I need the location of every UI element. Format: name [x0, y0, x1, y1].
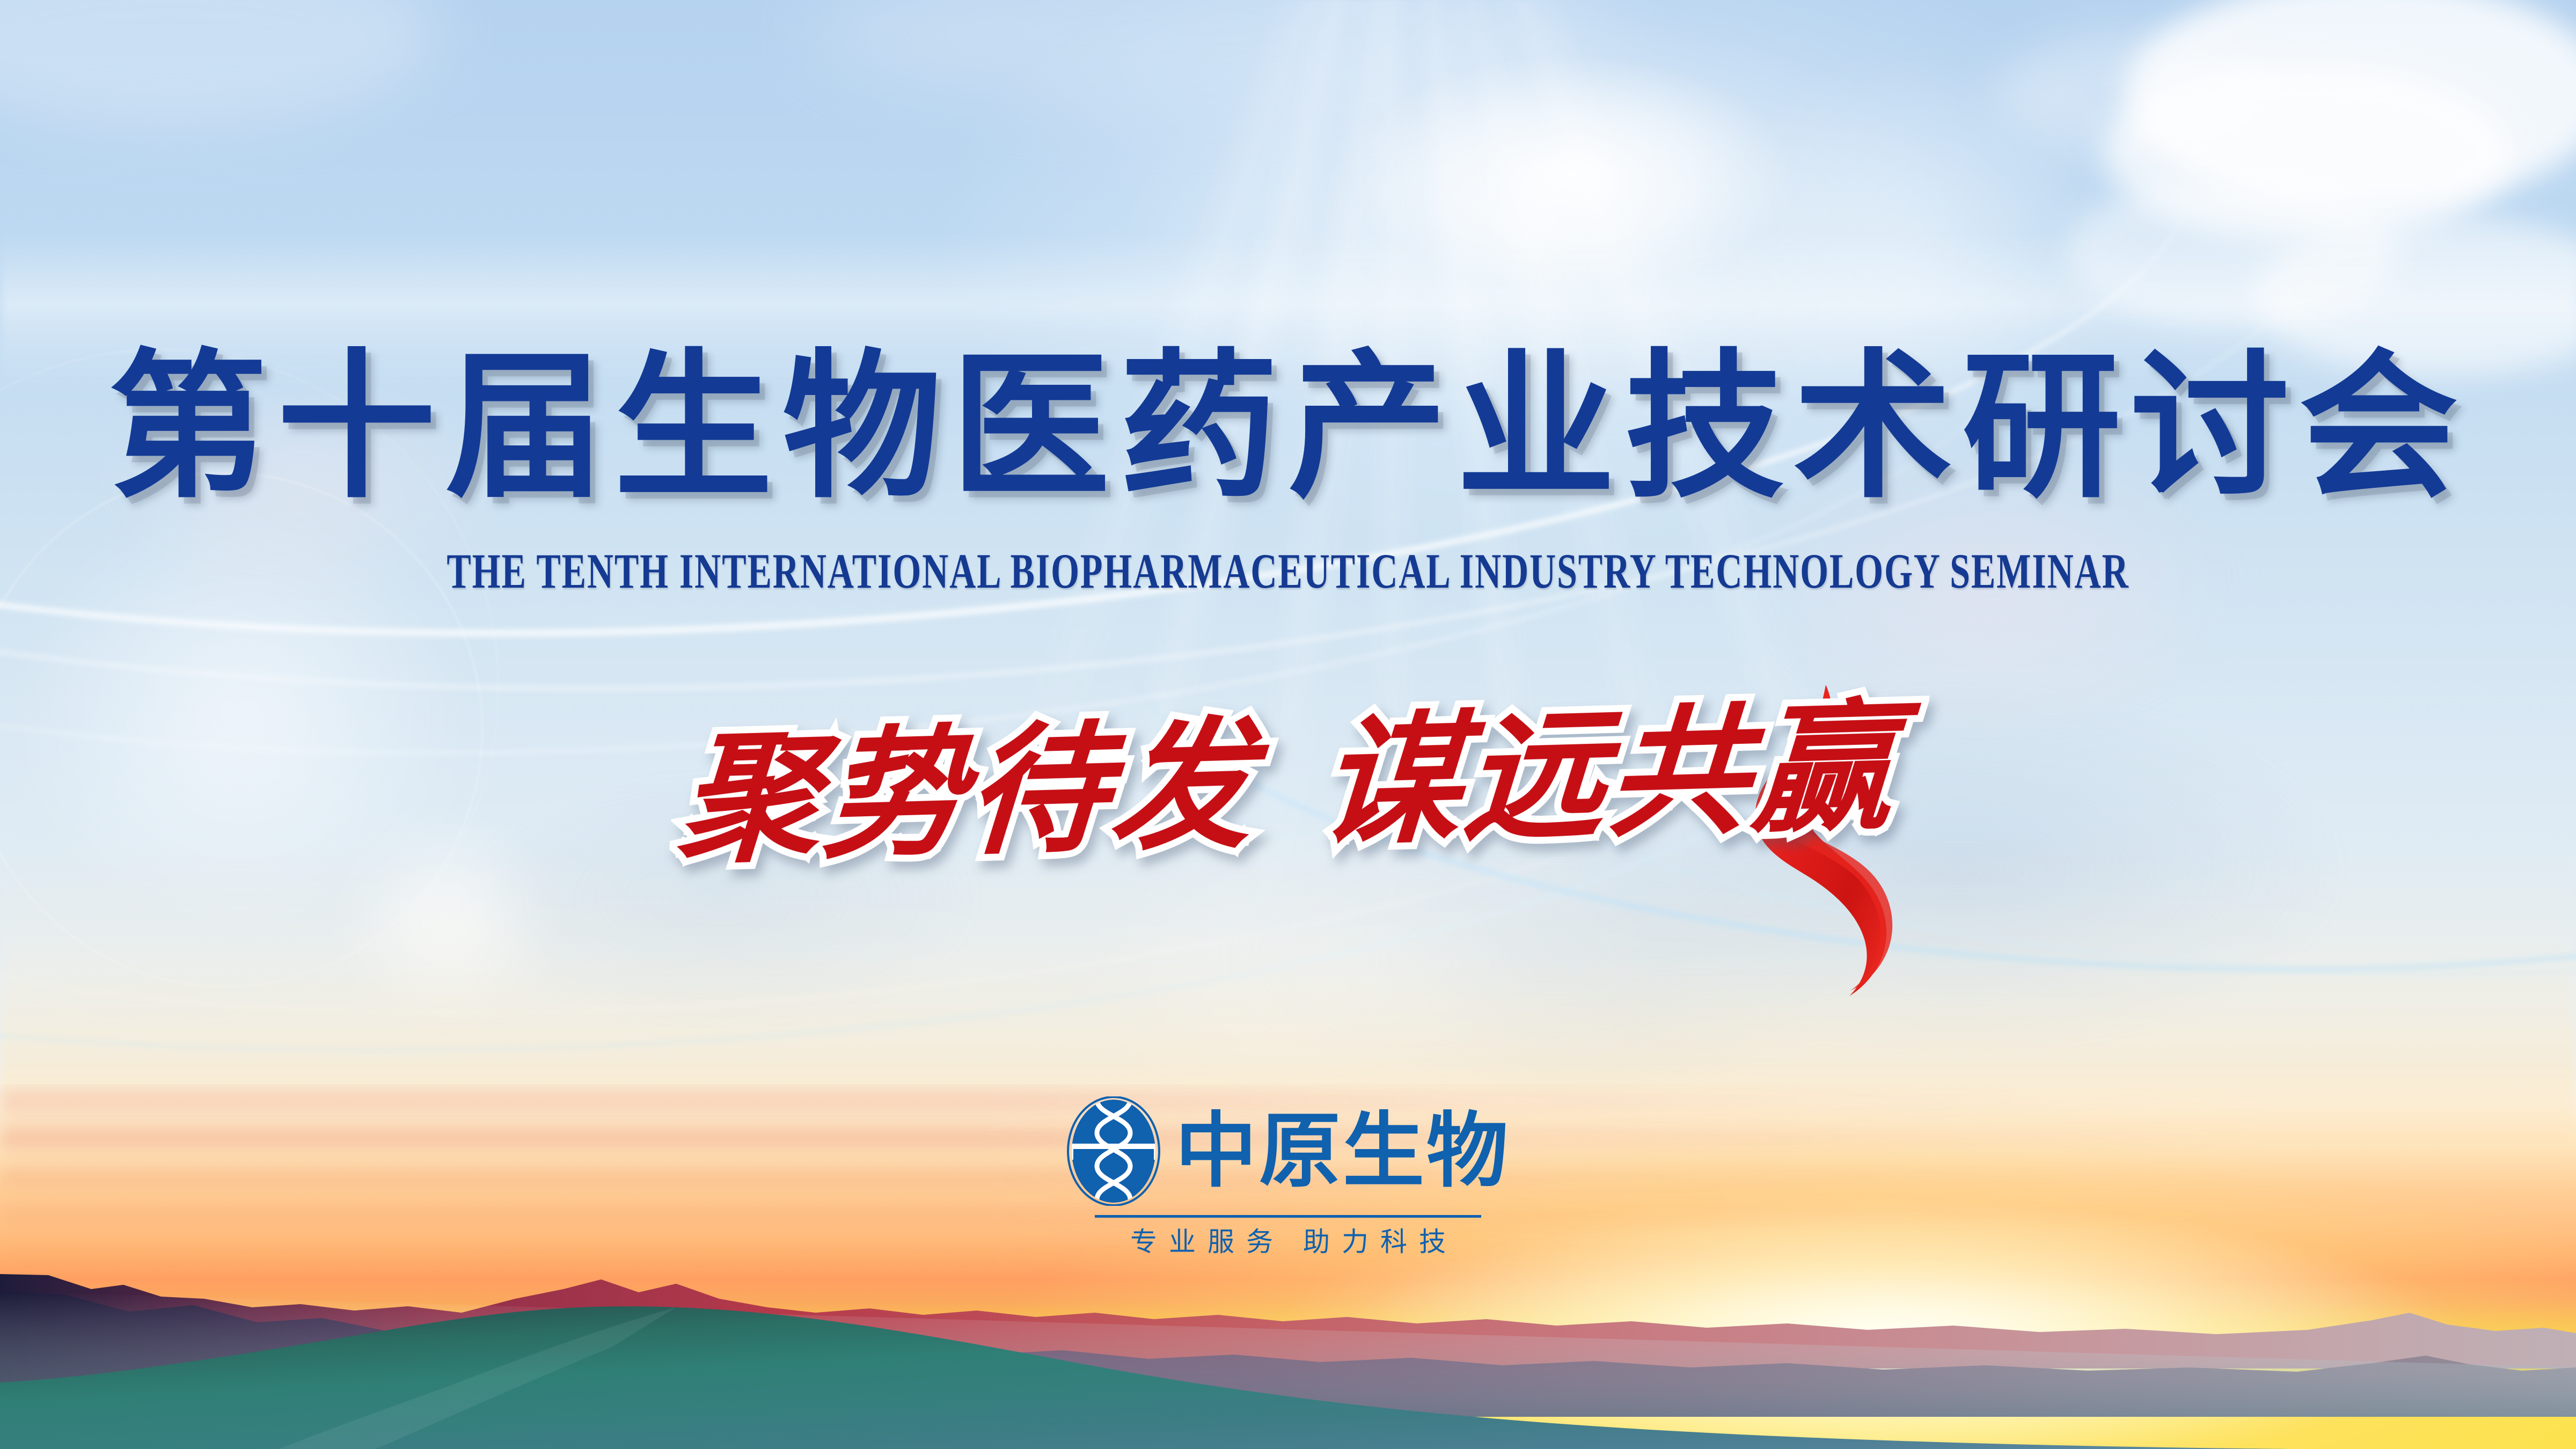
logo-divider: [1095, 1215, 1481, 1218]
page-subtitle: THE TENTH INTERNATIONAL BIOPHARMACEUTICA…: [335, 546, 2241, 596]
tagline-left: 专业服务: [1130, 1226, 1285, 1257]
logo-tagline: 专业服务助力科技: [1079, 1228, 1497, 1255]
slogan-spacer: [1253, 831, 1318, 833]
slogan-calligraphy: 聚势待发谋远共赢: [0, 678, 2576, 890]
tagline-right: 助力科技: [1303, 1226, 1458, 1257]
dna-helix-emblem-icon: [1066, 1096, 1161, 1206]
poster-content: 第十届生物医药产业技术研讨会 THE TENTH INTERNATIONAL B…: [0, 0, 2576, 1449]
poster-canvas: 第十届生物医药产业技术研讨会 THE TENTH INTERNATIONAL B…: [0, 0, 2576, 1449]
logo-row: 中原生物: [1079, 1095, 1497, 1207]
slogan-part-1: 聚势待发: [675, 703, 1261, 883]
company-logo[interactable]: 中原生物 专业服务助力科技: [1079, 1095, 1497, 1255]
page-title: 第十届生物医药产业技术研讨会: [0, 348, 2576, 507]
slogan-part-2: 谋远共赢: [1315, 685, 1901, 865]
company-name: 中原生物: [1175, 1110, 1510, 1192]
